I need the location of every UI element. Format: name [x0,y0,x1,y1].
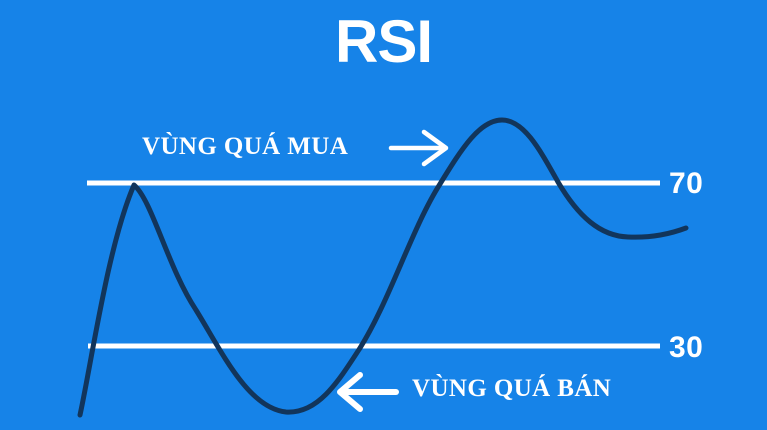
level-70-label: 70 [669,168,703,200]
rsi-curve [80,120,686,415]
oversold-zone-label: VÙNG QUÁ BÁN [412,376,611,402]
page-title: RSI [0,10,767,74]
level-30-label: 30 [669,332,703,364]
rsi-chart-figure: RSI VÙNG QUÁ MUA VÙNG QUÁ BÁN 70 30 [0,0,767,430]
overbought-zone-label: VÙNG QUÁ MUA [142,134,348,160]
arrow-right-icon [391,132,446,164]
arrow-left-icon [340,375,396,409]
